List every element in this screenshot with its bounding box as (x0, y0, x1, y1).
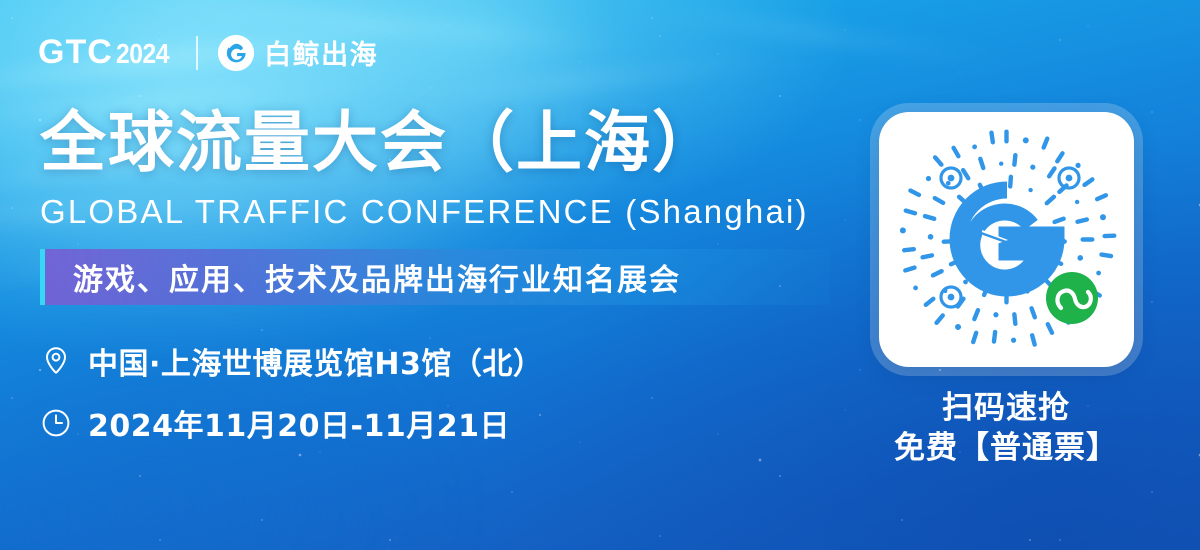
qr-caption-line-2: 免费【普通票】 (894, 429, 1118, 469)
water-wave-streak (381, 52, 810, 109)
qr-caption-line-1: 扫码速抢 (894, 389, 1118, 429)
date-row: 2024年11月20日-11月21日 (40, 401, 870, 445)
qr-caption: 扫码速抢 免费【普通票】 (894, 389, 1118, 468)
water-wave-streak (641, 4, 1019, 69)
gtc-wordmark: GTC (38, 33, 113, 72)
brand-name-text: 白鲸出海 (264, 33, 378, 72)
qr-panel: 扫码速抢 免费【普通票】 (866, 112, 1146, 468)
baijing-brand-logo: 白鲸出海 (218, 33, 378, 72)
date-text: 2024年11月20日-11月21日 (88, 401, 510, 445)
logo-divider (196, 36, 198, 70)
gtc-logo: GTC 2024 (38, 33, 176, 72)
clock-icon (40, 407, 72, 439)
main-copy-block: 全球流量大会（上海） GLOBAL TRAFFIC CONFERENCE (Sh… (40, 110, 870, 445)
whale-g-icon (218, 35, 254, 71)
wechat-miniprogram-qr-code[interactable] (879, 112, 1134, 367)
venue-text: 中国·上海世博展览馆H3馆（北） (88, 339, 543, 383)
promo-banner: GTC 2024 白鲸出海 全球流量大会（上海） GLOBAL TRAFFIC … (0, 0, 1200, 550)
venue-row: 中国·上海世博展览馆H3馆（北） (40, 339, 870, 383)
gtc-year: 2024 (116, 38, 169, 70)
page-subtitle-english: GLOBAL TRAFFIC CONFERENCE (Shanghai) (40, 193, 870, 231)
header-logo-row: GTC 2024 白鲸出海 (38, 33, 378, 72)
tagline-banner: 游戏、应用、技术及品牌出海行业知名展会 (40, 249, 830, 305)
wechat-miniprogram-badge-icon (1046, 272, 1098, 324)
location-pin-icon (40, 345, 72, 377)
page-title: 全球流量大会（上海） (40, 110, 870, 176)
tagline-text: 游戏、应用、技术及品牌出海行业知名展会 (73, 255, 681, 299)
